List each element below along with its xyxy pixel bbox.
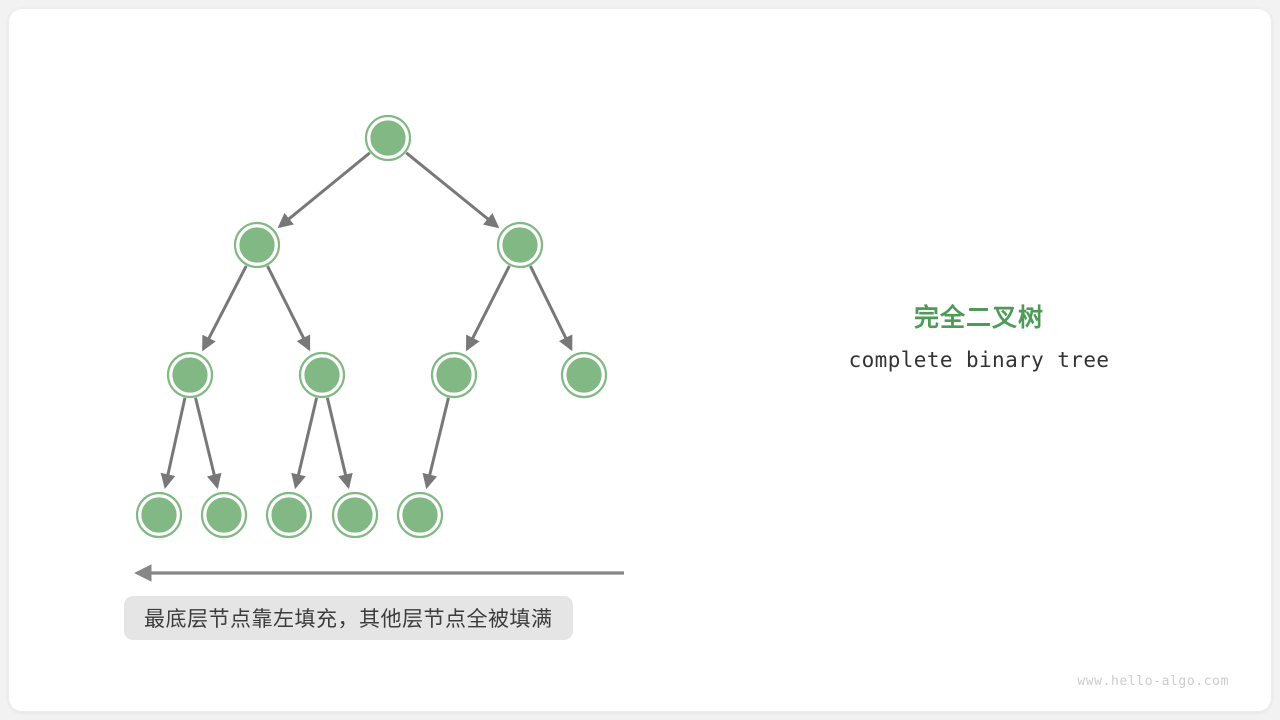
node-circle [402,497,439,534]
tree-edge [296,398,317,487]
node-circle [172,357,209,394]
tree-node [267,493,311,537]
tree-node [137,493,181,537]
tree-edge [165,398,185,487]
node-circle [502,227,539,264]
tree-node [300,353,344,397]
screenshot-canvas: 完全二叉树 complete binary tree 最底层节点靠左填充，其他层… [0,0,1280,720]
node-circle [239,227,276,264]
tree-node [398,493,442,537]
tree-node [168,353,212,397]
diagram-card: 完全二叉树 complete binary tree 最底层节点靠左填充，其他层… [8,8,1272,712]
tree-node [202,493,246,537]
tree-edge [203,266,246,349]
tree-edge [279,153,369,227]
tree-node [333,493,377,537]
node-circle [141,497,178,534]
tree-node [498,223,542,267]
tree-edge [327,398,348,487]
legend-subtitle: complete binary tree [799,348,1159,372]
tree-node [366,116,410,160]
watermark: www.hello-algo.com [1077,674,1229,689]
tree-nodes [137,116,606,537]
tree-edge [427,398,449,487]
node-circle [206,497,243,534]
caption-badge: 最底层节点靠左填充，其他层节点全被填满 [124,596,573,640]
tree-node [235,223,279,267]
tree-edge [467,266,509,349]
node-circle [304,357,341,394]
node-circle [271,497,308,534]
tree-node [562,353,606,397]
node-circle [566,357,603,394]
node-circle [337,497,374,534]
tree-edge [530,266,571,349]
tree-edge [268,266,310,349]
legend-title: 完全二叉树 [799,301,1159,335]
node-circle [436,357,473,394]
tree-edge [406,153,497,227]
legend-block: 完全二叉树 complete binary tree [799,301,1159,372]
tree-edges [165,153,571,487]
tree-node [432,353,476,397]
caption-text: 最底层节点靠左填充，其他层节点全被填满 [144,603,553,633]
node-circle [370,120,407,157]
tree-edge [196,398,218,487]
